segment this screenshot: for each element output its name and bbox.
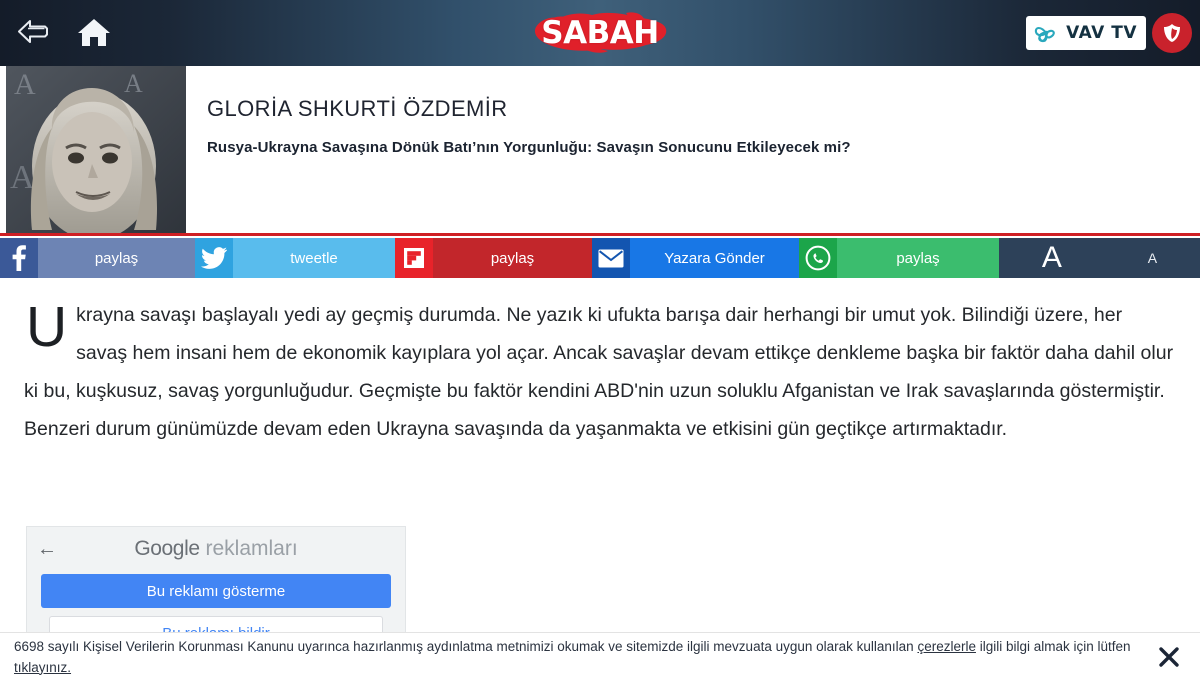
increase-font-button[interactable]: A [1042, 243, 1062, 273]
home-icon[interactable] [76, 17, 112, 49]
flipboard-share-label[interactable]: paylaş [433, 238, 592, 278]
article-body: Ukrayna savaşı başlayalı yedi ay geçmiş … [0, 278, 1200, 448]
cookie-close-button[interactable] [1152, 640, 1186, 674]
logo-wordmark: SABAH [541, 15, 658, 51]
cookie-link-click-here[interactable]: tıklayınız. [14, 660, 71, 675]
vav-tv-button[interactable]: VAV TV [1026, 16, 1146, 50]
header-left-controls [0, 17, 112, 49]
ad-hide-button[interactable]: Bu reklamı gösterme [41, 574, 391, 608]
author-photo[interactable]: A A A [6, 66, 186, 233]
author-name[interactable]: GLORİA SHKURTİ ÖZDEMİR [207, 96, 851, 122]
cookie-link-cookies[interactable]: çerezlerle [917, 639, 976, 654]
facebook-icon[interactable] [0, 238, 38, 278]
shield-icon [1161, 22, 1183, 44]
article-title[interactable]: Rusya-Ukrayna Savaşına Dönük Batı’nın Yo… [207, 139, 851, 156]
google-ad-box: ← Google reklamları Bu reklamı gösterme … [26, 526, 406, 642]
share-whatsapp[interactable]: paylaş [799, 238, 999, 278]
decrease-font-button[interactable]: A [1148, 251, 1157, 265]
envelope-icon[interactable] [592, 238, 630, 278]
flipboard-icon[interactable] [395, 238, 433, 278]
svg-text:A: A [10, 159, 35, 196]
cookie-text-part-1: 6698 sayılı Kişisel Verilerin Korunması … [14, 639, 917, 654]
ad-header: ← Google reklamları [27, 527, 405, 561]
share-bar: paylaş tweetle paylaş Yazara Gönder payl [0, 238, 1200, 278]
share-facebook[interactable]: paylaş [0, 238, 195, 278]
header-right-controls: VAV TV [1026, 0, 1192, 66]
share-twitter[interactable]: tweetle [195, 238, 395, 278]
whatsapp-share-label[interactable]: paylaş [837, 238, 999, 278]
ad-title: Google reklamları [57, 537, 393, 561]
app-header: SABAH VAV TV [0, 0, 1200, 66]
back-arrow-icon[interactable] [16, 18, 50, 48]
ad-brand: Google [134, 537, 199, 560]
svg-text:A: A [14, 68, 36, 101]
whatsapp-icon[interactable] [799, 238, 837, 278]
facebook-share-label[interactable]: paylaş [38, 238, 195, 278]
sabah-logo[interactable]: SABAH [530, 7, 670, 59]
email-share-label[interactable]: Yazara Gönder [630, 238, 799, 278]
ad-title-suffix: reklamları [200, 537, 298, 560]
author-portrait-image: A A A [6, 66, 186, 233]
logo-container: SABAH [0, 0, 1200, 66]
svg-text:A: A [124, 69, 143, 98]
share-email[interactable]: Yazara Gönder [592, 238, 799, 278]
cookie-text: 6698 sayılı Kişisel Verilerin Korunması … [14, 636, 1152, 678]
article-dropcap: U [24, 296, 76, 352]
share-flipboard[interactable]: paylaş [395, 238, 592, 278]
ad-back-arrow-icon[interactable]: ← [37, 539, 57, 559]
author-strip: A A A GLORİA SHKURTİ ÖZDEMİR Rusya-Ukray… [0, 66, 1200, 233]
twitter-icon[interactable] [195, 238, 233, 278]
article-text: krayna savaşı başlayalı yedi ay geçmiş d… [24, 304, 1173, 440]
cookie-text-part-2: ilgili bilgi almak için lütfen [976, 639, 1131, 654]
close-icon [1158, 646, 1180, 668]
cookie-consent-bar: 6698 sayılı Kişisel Verilerin Korunması … [0, 632, 1200, 680]
vav-tv-label: VAV TV [1066, 23, 1137, 43]
vav-pinwheel-icon [1032, 20, 1060, 46]
shield-badge-button[interactable] [1152, 13, 1192, 53]
author-meta: GLORİA SHKURTİ ÖZDEMİR Rusya-Ukrayna Sav… [186, 66, 851, 156]
twitter-share-label[interactable]: tweetle [233, 238, 395, 278]
app-page: SABAH VAV TV [0, 0, 1200, 680]
font-size-controls: A A [999, 238, 1200, 278]
